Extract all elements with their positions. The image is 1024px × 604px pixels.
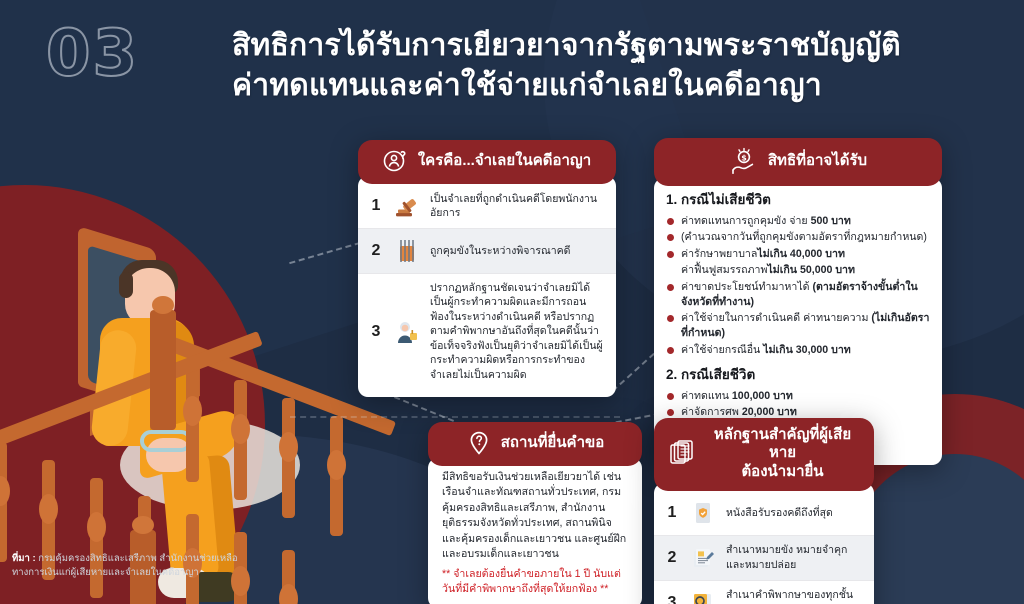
- rights-item: ค่ารักษาพยาบาลไม่เกิน 40,000 บาท: [666, 247, 930, 262]
- evidence-item-3-number: 3: [664, 594, 680, 604]
- evidence-item-1[interactable]: 1 หนังสือรับรองคดีถึงที่สุด: [654, 491, 874, 536]
- card-place-paragraph: มีสิทธิขอรับเงินช่วยเหลือเยียวยาได้ เช่น…: [428, 466, 642, 600]
- who-item-2-text: ถูกคุมขังในระหว่างพิจารณาคดี: [430, 244, 570, 258]
- card-place-title: สถานที่ยื่นคำขอ: [501, 434, 605, 452]
- source-footer: ที่มา : กรมคุ้มครองสิทธิและเสรีภาพ สำนัก…: [12, 552, 312, 580]
- rights-item: ค่าขาดประโยชน์ทำมาหาได้ (ตามอัตราจ้างขั้…: [666, 280, 930, 310]
- card-place-text: มีสิทธิขอรับเงินช่วยเหลือเยียวยาได้ เช่น…: [442, 471, 626, 560]
- rights-section-1-heading: 1. กรณีไม่เสียชีวิต: [654, 186, 942, 212]
- card-who-header: ใครคือ...จำเลยในคดีอาญา: [358, 140, 616, 184]
- person-hair-side: [119, 272, 133, 298]
- gavel-icon: [392, 191, 422, 221]
- who-item-2[interactable]: 2 ถูกคุมขังในระหว่างพิจารณาคดี: [358, 229, 616, 274]
- baluster: [234, 380, 247, 500]
- who-item-1-text: เป็นจำเลยที่ถูกดำเนินคดีโดยพนักงานอัยการ: [430, 192, 604, 221]
- rights-item: ค่าทดแทนการถูกคุมขัง จ่าย 500 บาท: [666, 214, 930, 229]
- evidence-item-2-text: สำเนาหมายขัง หมายจำคุก และหมายปล่อย: [726, 543, 862, 572]
- rights-section-2-heading: 2. กรณีเสียชีวิต: [654, 361, 942, 387]
- source-line-2: ทางการเงินแก่ผู้เสียหายและจำเลยในคดีอาญา: [12, 567, 199, 578]
- defendant-in-dock-illustration: [0, 120, 370, 590]
- rights-section-1-list: ค่าทดแทนการถูกคุมขัง จ่าย 500 บาท (คำนวณ…: [654, 214, 942, 362]
- card-who-is-defendant: ใครคือ...จำเลยในคดีอาญา 1 เป็นจำเลยที่ถู…: [358, 140, 616, 397]
- baluster: [330, 416, 343, 536]
- rights-item: ค่าใช้จ่ายกรณีอื่น ไม่เกิน 30,000 บาท: [666, 343, 930, 358]
- prison-bars-icon: [392, 236, 422, 266]
- card-evidence-title-line-1: หลักฐานสำคัญที่ผู้เสียหาย: [714, 426, 851, 461]
- connector-line-horizontal: [290, 416, 620, 418]
- step-number: 03: [46, 22, 139, 86]
- warrant-pen-icon: [688, 543, 718, 573]
- judge-icon: [392, 317, 422, 347]
- card-rights-header: $ สิทธิที่อาจได้รับ: [654, 138, 942, 186]
- page-title-line-2: ค่าทดแทนและค่าใช้จ่ายแก่จำเลยในคดีอาญา: [232, 66, 1022, 106]
- rights-item: (คำนวณจากวันที่ถูกคุมขังตามอัตราที่กฎหมา…: [666, 230, 930, 245]
- card-who-title: ใครคือ...จำเลยในคดีอาญา: [418, 152, 591, 170]
- handcuffs-icon: [140, 430, 192, 452]
- evidence-item-3[interactable]: 3 สำเนาคำพิพากษาของทุกชั้นศาล: [654, 581, 874, 604]
- card-possible-rights: $ สิทธิที่อาจได้รับ 1. กรณีไม่เสียชีวิต …: [654, 138, 942, 465]
- card-evidence-header: หลักฐานสำคัญที่ผู้เสียหาย ต้องนำมายื่น: [654, 418, 874, 491]
- evidence-item-1-text: หนังสือรับรองคดีถึงที่สุด: [726, 506, 833, 520]
- rights-item: ค่าใช้จ่ายในการดำเนินคดี ค่าทนายความ (ไม…: [666, 311, 930, 341]
- evidence-item-3-text: สำเนาคำพิพากษาของทุกชั้นศาล: [726, 588, 862, 604]
- page-title: สิทธิการได้รับการเยียวยาจากรัฐตามพระราชบ…: [232, 26, 1022, 106]
- rights-item: ค่าทดแทน 100,000 บาท: [666, 389, 930, 404]
- magnifier-doc-icon: [688, 588, 718, 604]
- card-place-note: ** จำเลยต้องยื่นคำขอภายใน 1 ปี นับแต่วัน…: [442, 567, 628, 598]
- source-label: ที่มา :: [12, 553, 36, 564]
- infographic-canvas: 03 สิทธิการได้รับการเยียวยาจากรัฐตามพระร…: [0, 0, 1024, 604]
- who-item-1[interactable]: 1 เป็นจำเลยที่ถูกดำเนินคดีโดยพนักงานอัยก…: [358, 184, 616, 229]
- map-pin-question-icon: [466, 430, 492, 456]
- card-evidence-title: หลักฐานสำคัญที่ผู้เสียหาย ต้องนำมายื่น: [705, 426, 860, 481]
- who-item-3-number: 3: [368, 323, 384, 341]
- documents-icon: [668, 439, 696, 467]
- evidence-item-1-number: 1: [664, 504, 680, 522]
- source-line-1: กรมคุ้มครองสิทธิและเสรีภาพ สำนักงานช่วยเ…: [36, 553, 238, 564]
- rights-item-continuation: ค่าฟื้นฟูสมรรถภาพไม่เกิน 50,000 บาท: [666, 263, 930, 278]
- card-place-to-apply: สถานที่ยื่นคำขอ มีสิทธิขอรับเงินช่วยเหลื…: [428, 422, 642, 604]
- card-evidence-body: 1 หนังสือรับรองคดีถึงที่สุด 2: [654, 483, 874, 604]
- who-item-2-number: 2: [368, 242, 384, 260]
- certificate-icon: [688, 498, 718, 528]
- newel-post-top: [150, 310, 176, 430]
- page-title-line-1: สิทธิการได้รับการเยียวยาจากรัฐตามพระราชบ…: [232, 29, 901, 62]
- svg-text:$: $: [741, 153, 747, 162]
- card-evidence-title-line-2: ต้องนำมายื่น: [741, 463, 823, 480]
- person-question-icon: [383, 148, 409, 174]
- card-who-body: 1 เป็นจำเลยที่ถูกดำเนินคดีโดยพนักงานอัยก…: [358, 176, 616, 397]
- baluster: [0, 442, 7, 562]
- card-rights-title: สิทธิที่อาจได้รับ: [768, 152, 867, 170]
- who-item-1-number: 1: [368, 197, 384, 215]
- baluster: [90, 478, 103, 598]
- card-required-evidence: หลักฐานสำคัญที่ผู้เสียหาย ต้องนำมายื่น 1…: [654, 418, 874, 604]
- card-place-header: สถานที่ยื่นคำขอ: [428, 422, 642, 466]
- who-item-3-text: ปรากฏหลักฐานชัดเจนว่าจำเลยมิได้เป็นผู้กร…: [430, 281, 604, 382]
- evidence-item-2-number: 2: [664, 549, 680, 567]
- hand-money-icon: $: [729, 146, 759, 176]
- baluster: [186, 362, 199, 482]
- who-item-3[interactable]: 3 ปรากฏหลักฐานชัดเจนว่าจำเลยมิได้เป็นผู้…: [358, 274, 616, 389]
- evidence-item-2[interactable]: 2 สำเนาหมายขัง หมายจำคุก และห: [654, 536, 874, 581]
- card-place-body: มีสิทธิขอรับเงินช่วยเหลือเยียวยาได้ เช่น…: [428, 458, 642, 604]
